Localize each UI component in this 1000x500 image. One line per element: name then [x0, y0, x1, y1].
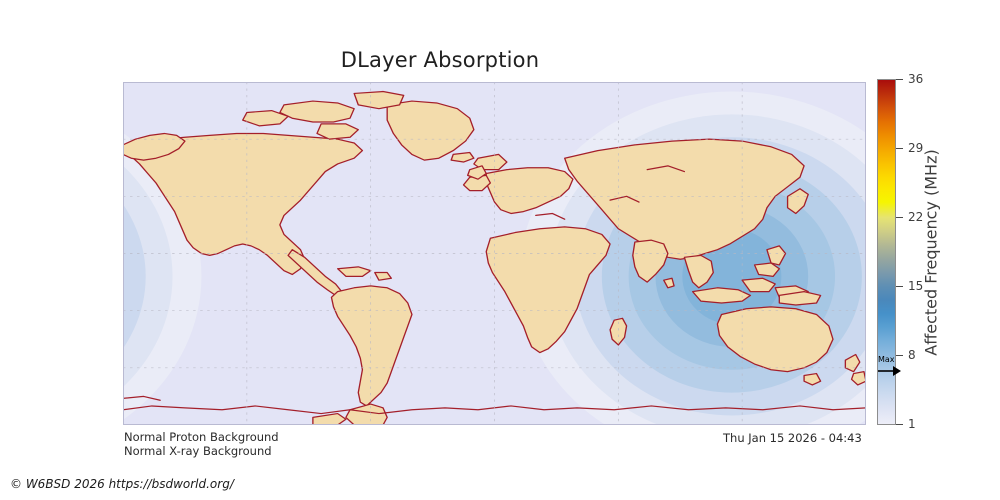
world-map-panel[interactable] — [123, 82, 866, 425]
colorbar-tick-1: 1 — [896, 417, 916, 431]
tick-mark-icon — [896, 217, 903, 218]
tick-mark-icon — [896, 355, 903, 356]
world-map-svg — [123, 82, 866, 425]
dlayer-absorption-figure: DLayer Absorption — [0, 0, 1000, 500]
tick-mark-icon — [896, 148, 903, 149]
colorbar-tick-8: 8 — [896, 348, 916, 362]
tick-mark-icon — [896, 424, 903, 425]
timestamp-label: Thu Jan 15 2026 - 04:43 — [723, 431, 862, 445]
copyright-footer: © W6BSD 2026 https://bsdworld.org/ — [10, 477, 234, 491]
colorbar-axis-label: Affected Frequency (MHz) — [916, 79, 946, 425]
proton-background-note: Normal Proton Background — [124, 430, 279, 444]
colorbar-gradient[interactable] — [877, 79, 896, 425]
page-title: DLayer Absorption — [0, 48, 880, 72]
tick-mark-icon — [896, 79, 903, 80]
tick-mark-icon — [896, 286, 903, 287]
xray-background-note: Normal X-ray Background — [124, 444, 272, 458]
